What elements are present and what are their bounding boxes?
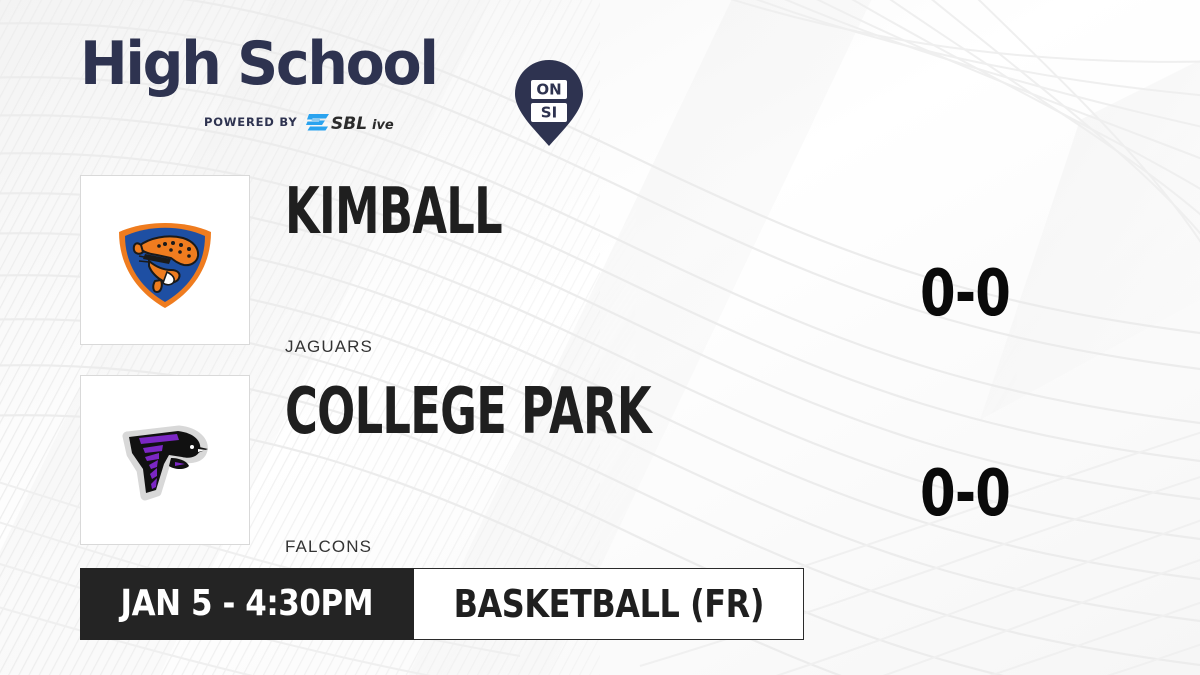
sblive-logo-icon: SBL ive — [304, 111, 408, 133]
brand-header: High School ON SI POWERED BY — [80, 33, 510, 131]
team-mascot-away: FALCONS — [285, 537, 372, 557]
sblive-wordmark-tail: ive — [372, 118, 394, 133]
matchup-graphic: High School ON SI POWERED BY — [0, 0, 1200, 675]
brand-wordmark: High School — [80, 33, 437, 95]
game-datetime-chip: JAN 5 - 4:30PM — [80, 568, 414, 640]
jaguar-head-shield-logo-icon — [105, 200, 225, 320]
powered-by-row: POWERED BY SBL ive — [204, 111, 408, 133]
team-name-away: COLLEGE PARK — [285, 380, 651, 444]
game-datetime-label: JAN 5 - 4:30PM — [121, 586, 374, 622]
powered-by-label: POWERED BY — [204, 115, 297, 129]
game-sport-label: BASKETBALL (FR) — [453, 585, 763, 623]
team-mascot-home: JAGUARS — [285, 337, 373, 357]
team-logo-box-away — [80, 375, 250, 545]
pin-line-1: ON — [536, 81, 561, 99]
team-record-away: 0-0 — [920, 462, 1010, 526]
team-name-home: KIMBALL — [285, 180, 502, 244]
on-si-pin-icon: ON SI — [512, 59, 586, 147]
team-logo-box-home — [80, 175, 250, 345]
game-sport-chip: BASKETBALL (FR) — [414, 568, 804, 640]
team-record-home: 0-0 — [920, 262, 1010, 326]
pin-line-2: SI — [541, 104, 557, 122]
game-info-bar: JAN 5 - 4:30PM BASKETBALL (FR) — [80, 568, 804, 640]
sblive-wordmark-dark: SBL — [331, 114, 367, 133]
falcon-head-logo-icon — [105, 400, 225, 520]
